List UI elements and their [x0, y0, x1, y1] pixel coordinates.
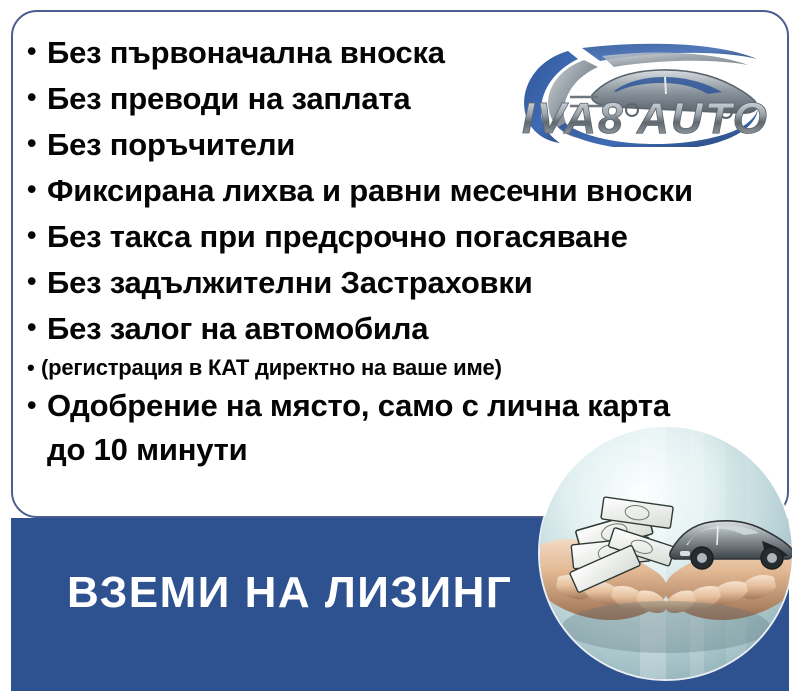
bullet-icon: •: [27, 306, 45, 341]
benefit-label: Без преводи на заплата: [47, 76, 410, 121]
ivas-auto-logo: IVA8 AUTO: [510, 39, 772, 147]
bullet-icon: •: [27, 384, 45, 419]
bullet-icon: •: [27, 352, 40, 379]
bullet-icon: •: [27, 260, 45, 295]
benefit-note: (регистрация в КАТ директно на ваше име): [41, 352, 502, 384]
list-item: • Фиксирана лихва и равни месечни вноски: [27, 168, 797, 213]
benefit-label: Без първоначална вноска: [47, 30, 445, 75]
benefit-label: Без такса при предсрочно погасяване: [47, 214, 628, 259]
bullet-icon: •: [27, 30, 45, 65]
benefit-label: Без задължителни Застраховки: [47, 260, 533, 305]
benefit-label: Фиксирана лихва и равни месечни вноски: [47, 168, 693, 213]
benefit-label: Без поръчители: [47, 122, 295, 167]
cta-headline: ВЗЕМИ НА ЛИЗИНГ: [67, 568, 512, 618]
benefit-label: Без залог на автомобила: [47, 306, 428, 351]
logo-wordmark: IVA8 AUTO: [522, 94, 769, 143]
bullet-icon: •: [27, 76, 45, 111]
list-item: • Без такса при предсрочно погасяване: [27, 214, 797, 259]
list-item: • Без задължителни Застраховки: [27, 260, 797, 305]
bullet-icon: •: [27, 122, 45, 157]
list-item: • Без залог на автомобила: [27, 306, 797, 351]
bullet-icon: •: [27, 168, 45, 203]
hands-money-car-photo: [540, 427, 792, 679]
list-item: • (регистрация в КАТ директно на ваше им…: [27, 352, 797, 384]
bullet-icon: •: [27, 214, 45, 249]
benefit-label: Одобрение на място, само с лична карта д…: [47, 384, 670, 472]
